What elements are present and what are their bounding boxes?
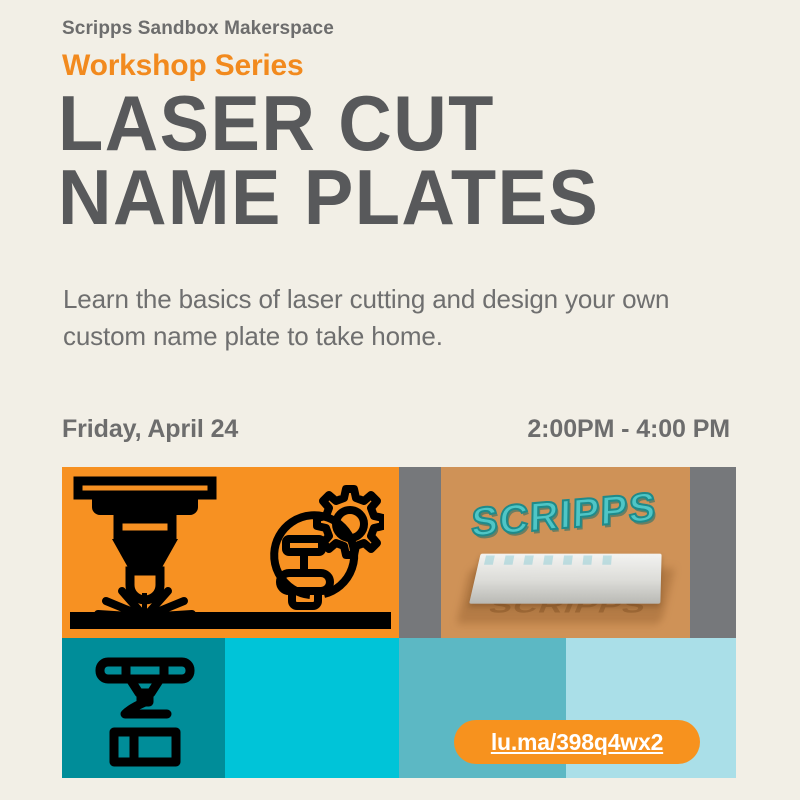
poster-canvas: Scripps Sandbox Makerspace Workshop Seri… xyxy=(0,0,800,800)
event-time: 2:00PM - 4:00 PM xyxy=(527,415,730,444)
image-mosaic: SCRIPPS SCRIPPS xyxy=(62,467,736,778)
organization-name: Scripps Sandbox Makerspace xyxy=(62,18,334,40)
grey-spacer-right xyxy=(690,467,736,638)
series-label: Workshop Series xyxy=(62,49,304,83)
orange-icon-panel xyxy=(62,467,399,638)
registration-link-button[interactable]: lu.ma/398q4wx2 xyxy=(454,720,700,764)
event-meta: Friday, April 24 2:00PM - 4:00 PM xyxy=(62,415,736,444)
teal-icon-panel xyxy=(62,638,225,778)
cnc-engraver-icon xyxy=(86,652,204,770)
grey-spacer-left xyxy=(399,467,441,638)
nameplate-photo: SCRIPPS SCRIPPS xyxy=(441,467,690,638)
registration-link-label: lu.ma/398q4wx2 xyxy=(491,729,663,756)
laser-cutter-head-icon xyxy=(72,475,224,630)
cyan-panel xyxy=(225,638,399,778)
nameplate-base xyxy=(469,554,662,604)
lightbulb-gear-icon xyxy=(254,477,384,615)
event-date: Friday, April 24 xyxy=(62,415,238,444)
description-text: Learn the basics of laser cutting and de… xyxy=(63,281,743,355)
laser-bed-bar xyxy=(70,612,391,629)
page-title: LASER CUT NAME PLATES xyxy=(58,86,723,234)
